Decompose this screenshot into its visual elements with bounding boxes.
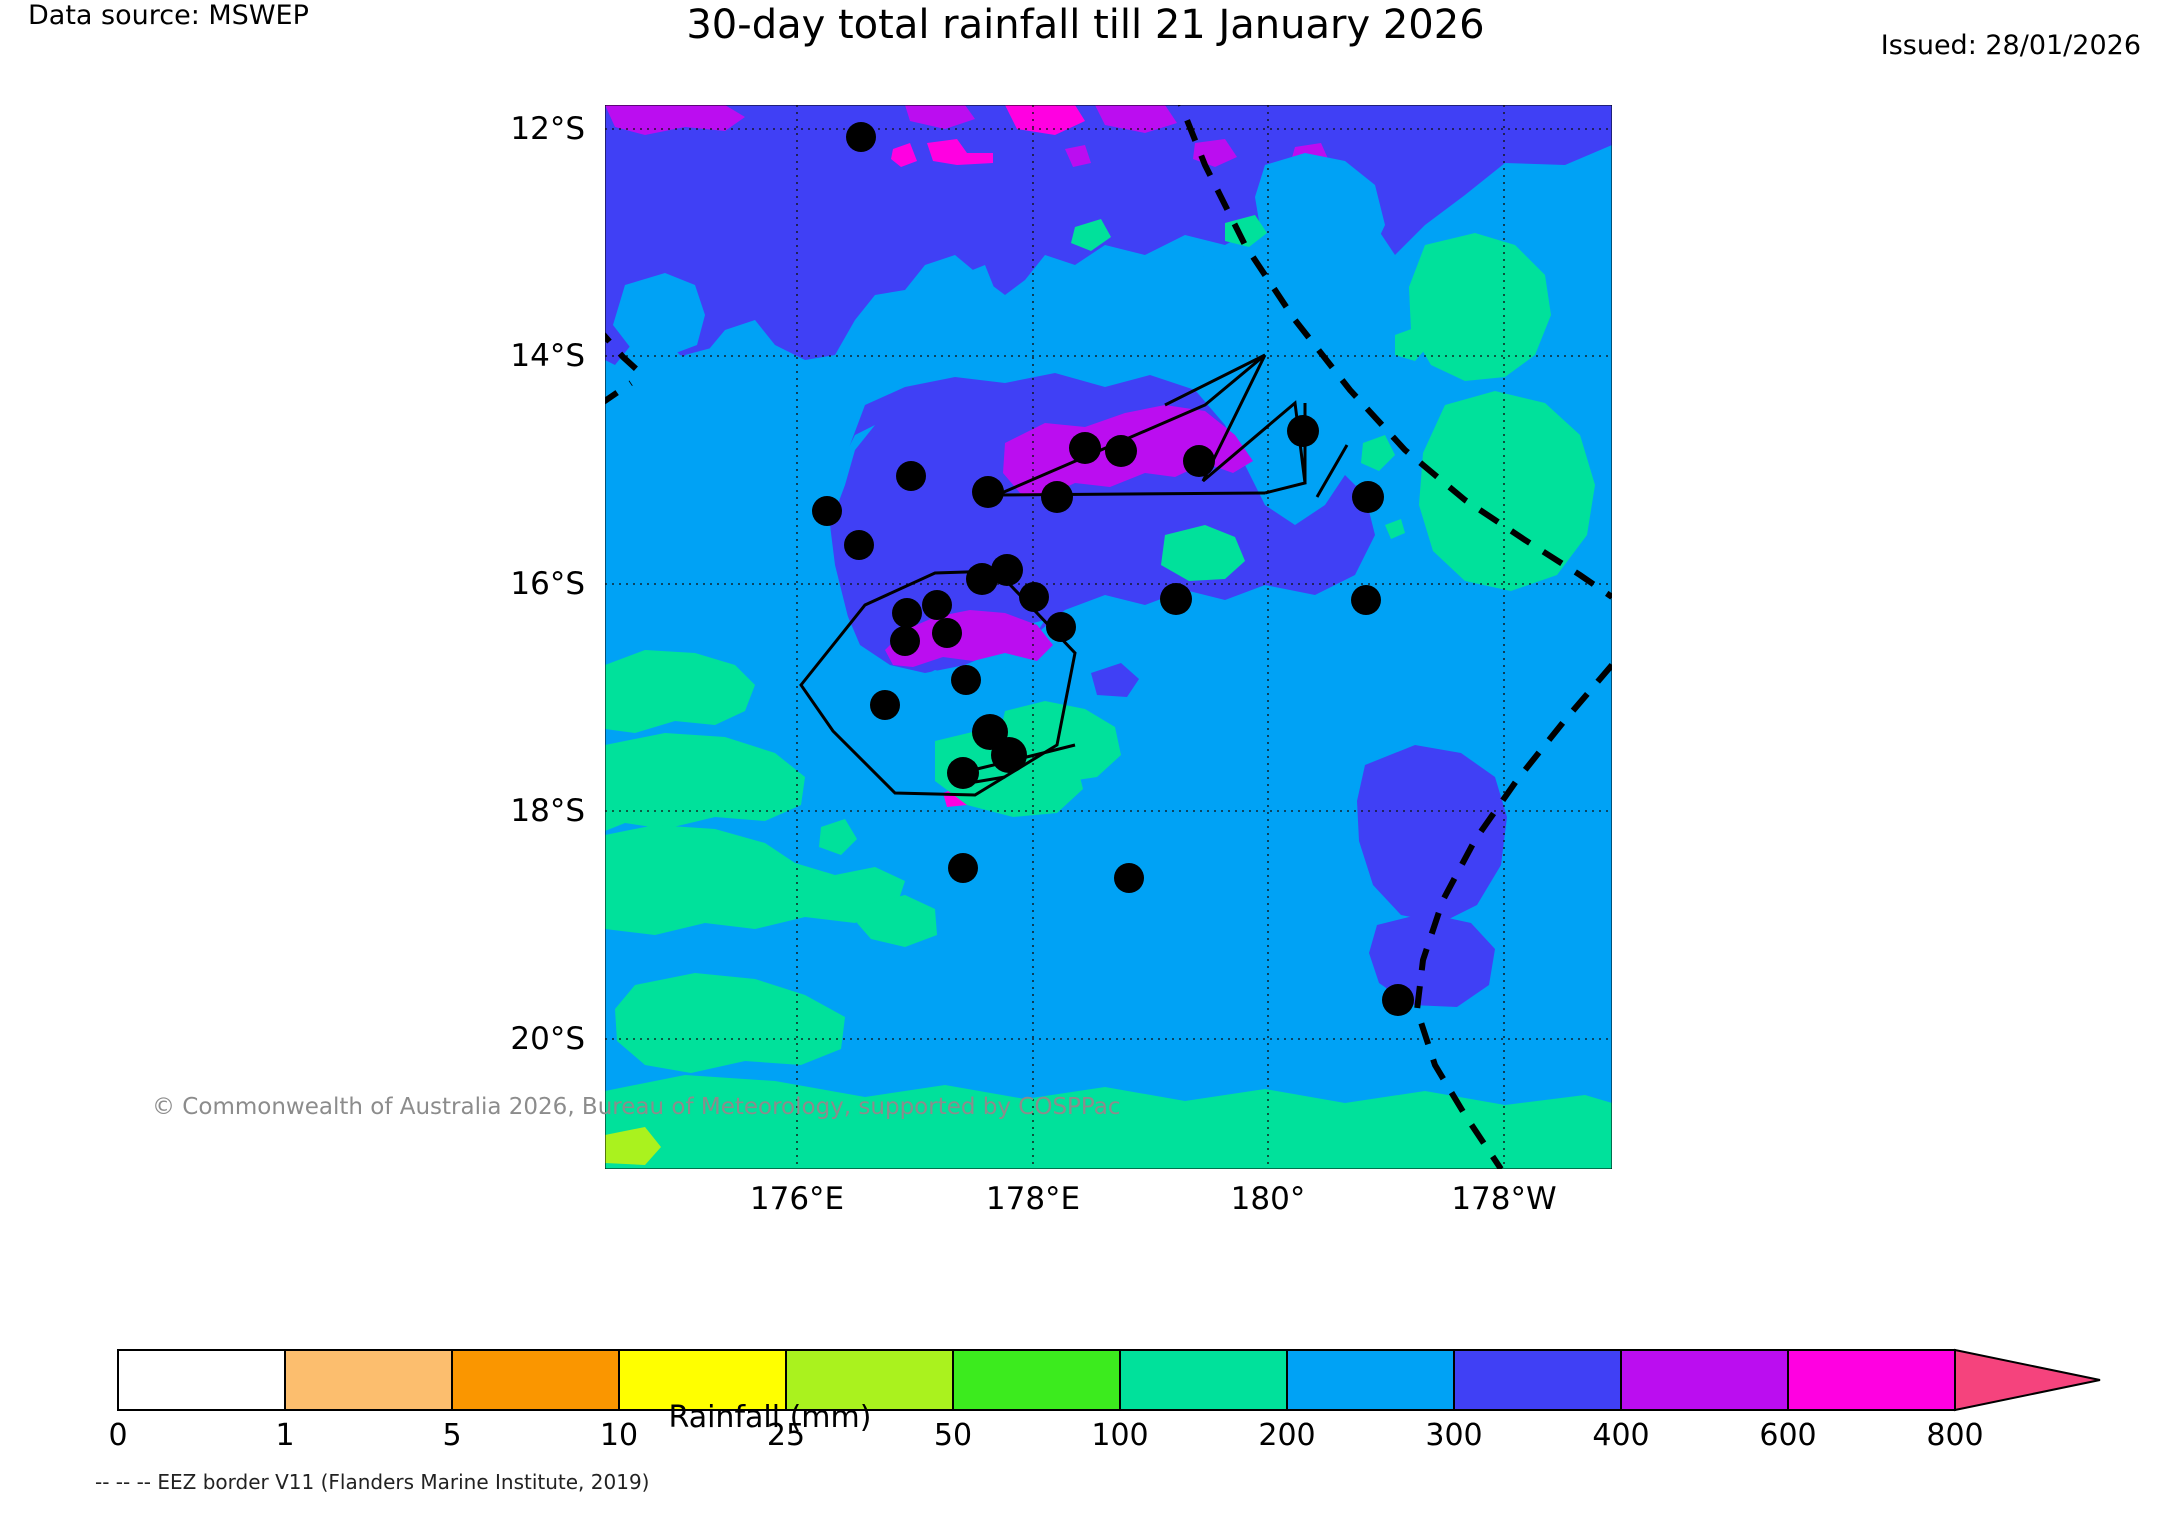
station-marker: [812, 496, 842, 526]
station-marker: [1069, 432, 1101, 464]
x-tick-3: 178°W: [1451, 1181, 1556, 1217]
page-title: 30-day total rainfall till 21 January 20…: [0, 2, 2171, 48]
station-marker: [991, 737, 1027, 773]
y-tick-1: 14°S: [510, 338, 585, 374]
station-marker: [951, 665, 981, 695]
station-marker: [1041, 481, 1073, 513]
y-tick-3: 18°S: [510, 793, 585, 829]
x-tick-2: 180°: [1231, 1181, 1306, 1217]
station-marker: [948, 853, 978, 883]
station-marker: [890, 626, 920, 656]
station-marker: [1183, 445, 1215, 477]
station-marker: [1114, 863, 1144, 893]
station-marker: [846, 122, 876, 152]
cb-extend-max-arrow: [1955, 1350, 2100, 1410]
station-marker: [922, 590, 952, 620]
station-marker: [1287, 415, 1319, 447]
station-marker: [991, 554, 1023, 586]
issued-date-label: Issued: 28/01/2026: [1881, 30, 2141, 61]
cb-seg-600-800: [1788, 1350, 1955, 1410]
x-tick-1: 178°E: [986, 1181, 1080, 1217]
rainfall-map[interactable]: [605, 105, 1612, 1169]
station-marker: [1019, 582, 1049, 612]
station-marker: [1382, 984, 1414, 1016]
cb-tick-9: 400: [1592, 1418, 1649, 1453]
station-marker: [892, 598, 922, 628]
station-marker: [932, 618, 962, 648]
station-marker: [1046, 612, 1076, 642]
y-tick-2: 16°S: [510, 566, 585, 602]
y-tick-0: 12°S: [510, 111, 585, 147]
station-marker: [1351, 585, 1381, 615]
station-marker: [870, 690, 900, 720]
cb-seg-400-600: [1621, 1350, 1788, 1410]
station-marker: [947, 757, 979, 789]
x-tick-0: 176°E: [750, 1181, 844, 1217]
station-marker: [1352, 481, 1384, 513]
y-tick-4: 20°S: [510, 1021, 585, 1057]
station-marker: [972, 476, 1004, 508]
cb-tick-11: 800: [1926, 1418, 1983, 1453]
station-marker: [844, 530, 874, 560]
eez-legend-note: -- -- -- EEZ border V11 (Flanders Marine…: [95, 1470, 649, 1494]
cb-tick-10: 600: [1759, 1418, 1816, 1453]
station-marker: [1160, 583, 1192, 615]
colorbar-axis-label: Rainfall (mm): [0, 1400, 1540, 1435]
station-marker: [896, 461, 926, 491]
station-marker: [1105, 435, 1137, 467]
